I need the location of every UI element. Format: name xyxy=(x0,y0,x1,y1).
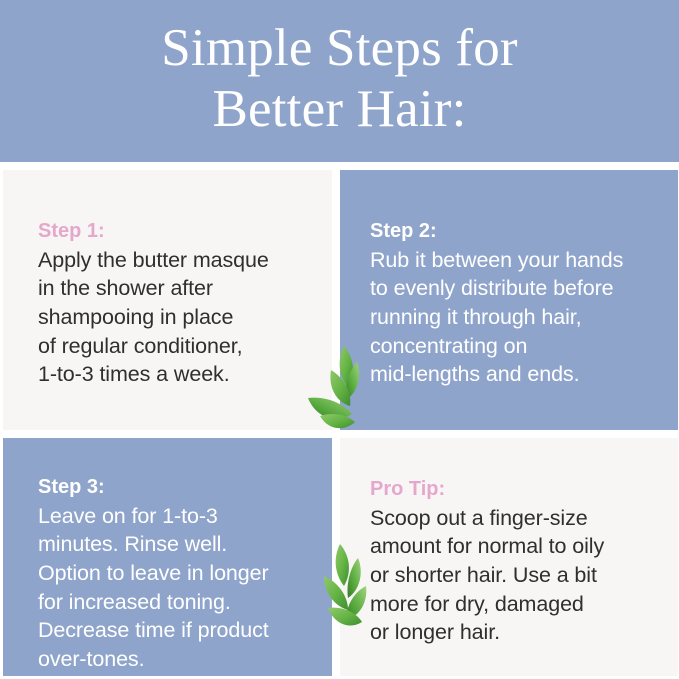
quadrant-step-1: Step 1: Apply the butter masque in the s… xyxy=(0,170,332,430)
page-title: Simple Steps for Better Hair: xyxy=(161,18,518,145)
edge-hairline-left xyxy=(0,162,3,679)
quadrant-step-3: Step 3: Leave on for 1-to-3 minutes. Rin… xyxy=(0,438,332,679)
pro-tip-label: Pro Tip: xyxy=(370,476,661,503)
step-2-label: Step 2: xyxy=(370,218,661,245)
step-1-label: Step 1: xyxy=(38,218,310,245)
quadrant-pro-tip-content: Pro Tip: Scoop out a finger-size amount … xyxy=(340,438,679,647)
step-3-body: Leave on for 1-to-3 minutes. Rinse well.… xyxy=(38,502,316,674)
infographic-poster: Simple Steps for Better Hair: Step 1: Ap… xyxy=(0,0,679,679)
step-3-label: Step 3: xyxy=(38,474,316,501)
pro-tip-body: Scoop out a finger-size amount for norma… xyxy=(370,504,661,647)
step-1-body: Apply the butter masque in the shower af… xyxy=(38,246,310,389)
steps-grid: Step 1: Apply the butter masque in the s… xyxy=(0,162,679,679)
quadrant-step-3-content: Step 3: Leave on for 1-to-3 minutes. Rin… xyxy=(0,438,332,673)
quadrant-pro-tip: Pro Tip: Scoop out a finger-size amount … xyxy=(340,438,679,679)
quadrant-step-1-content: Step 1: Apply the butter masque in the s… xyxy=(0,170,332,389)
quadrant-step-2: Step 2: Rub it between your hands to eve… xyxy=(340,170,679,430)
step-2-body: Rub it between your hands to evenly dist… xyxy=(370,246,661,389)
quadrant-step-2-content: Step 2: Rub it between your hands to eve… xyxy=(340,170,679,389)
header-band: Simple Steps for Better Hair: xyxy=(0,0,679,162)
